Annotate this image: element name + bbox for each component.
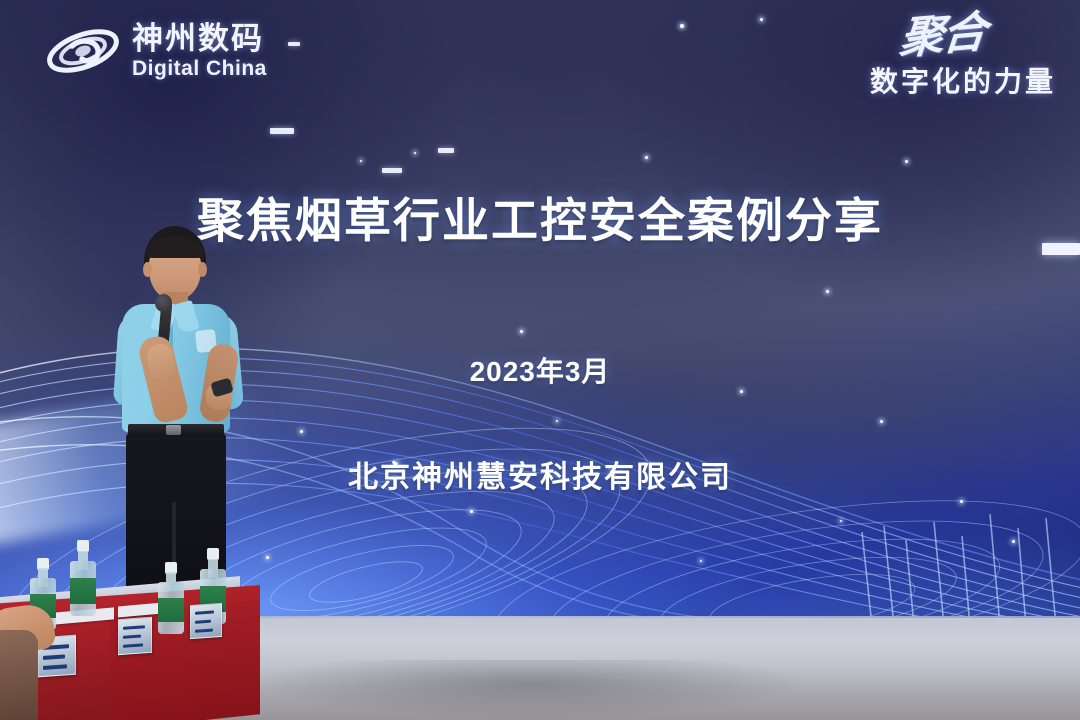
water-bottle (158, 562, 184, 634)
stage-photo: 神州数码 Digital China 聚合 数字化的力量 聚焦烟草行业工控安全案… (0, 0, 1080, 720)
speaker-left-ear (143, 262, 152, 277)
particle-dot (760, 18, 763, 21)
name-card-text-line (123, 635, 142, 639)
floor-shadow (250, 660, 810, 720)
decor-dash (270, 128, 294, 134)
digital-china-logo: 神州数码 Digital China (44, 18, 267, 84)
logo-text-block: 神州数码 Digital China (132, 23, 267, 79)
name-card-text-line (195, 610, 215, 614)
bottle-label (158, 598, 184, 622)
particle-dot (645, 156, 648, 159)
speaker-right-ear (198, 262, 207, 277)
event-brush-logo: 聚合 (898, 10, 987, 61)
foreground-person (0, 630, 38, 720)
event-tagline: 数字化的力量 (870, 68, 1056, 96)
particle-dot (826, 290, 829, 293)
particle-dot (360, 160, 362, 162)
decor-dash (288, 42, 300, 46)
event-brand-mark: 聚合 数字化的力量 (870, 14, 1056, 96)
name-card (190, 603, 222, 639)
logo-name-cn: 神州数码 (132, 23, 267, 54)
water-bottle (70, 540, 96, 616)
name-card-text-line (195, 628, 214, 632)
speaker-belt-buckle (166, 425, 181, 435)
particle-dot (414, 152, 416, 154)
name-card-text-line (195, 620, 212, 624)
name-card-text-line (123, 625, 145, 630)
name-card (118, 617, 152, 655)
name-card-text-line (123, 643, 143, 647)
decor-dash (438, 148, 454, 153)
logo-name-en: Digital China (132, 58, 267, 79)
swirl-galaxy-logo-icon (44, 18, 122, 84)
particle-dot (680, 24, 684, 28)
name-card-text-line (43, 664, 67, 670)
decor-dash (382, 168, 402, 173)
particle-dot (905, 160, 908, 163)
bottle-label (70, 578, 96, 604)
name-card-text-line (43, 654, 65, 660)
